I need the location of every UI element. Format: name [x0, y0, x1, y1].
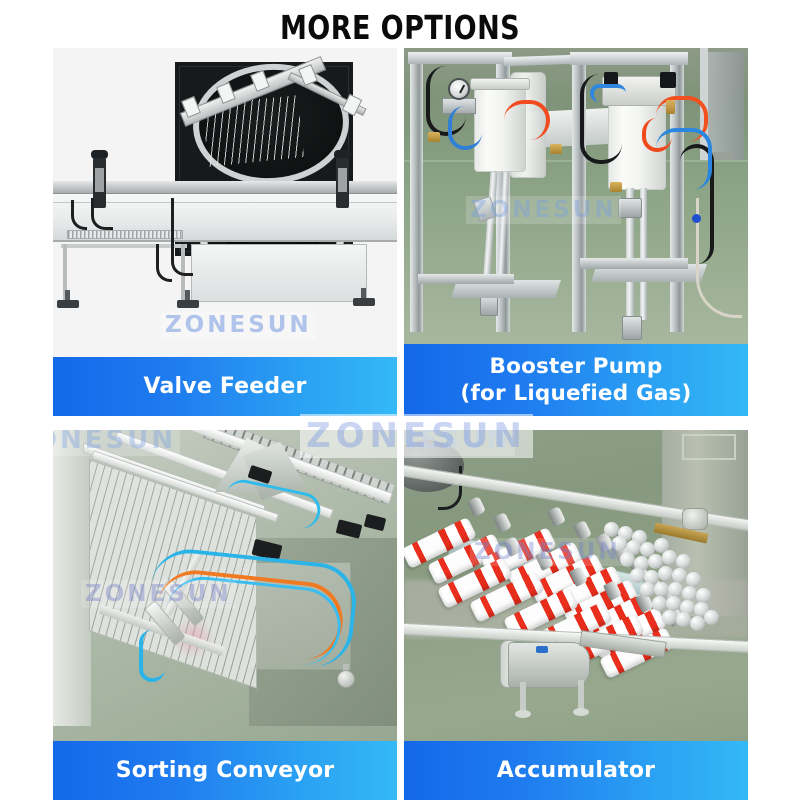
- pump-foot: [573, 708, 589, 716]
- option-card-valve-feeder[interactable]: ZONESUN Valve Feeder: [53, 48, 397, 416]
- cable-tag: [692, 214, 701, 223]
- brass-fitting: [666, 100, 675, 114]
- pump-label: [536, 646, 548, 653]
- can-top: [676, 612, 691, 627]
- blue-air-tube: [590, 84, 626, 102]
- can-cap: [573, 520, 592, 541]
- brass-fitting: [610, 182, 622, 192]
- frame-column: [410, 52, 423, 332]
- leveling-foot: [177, 300, 199, 308]
- can-top: [662, 610, 677, 625]
- sorting-conveyor-photo: ZONESUN ZONESUN: [53, 430, 397, 741]
- caption-sorting-conveyor: Sorting Conveyor: [53, 741, 397, 800]
- can-top: [630, 568, 645, 583]
- caption-line: Sorting Conveyor: [116, 757, 335, 784]
- caption-line: Booster Pump: [460, 353, 691, 380]
- leveling-foot: [353, 298, 375, 306]
- solenoid-block: [364, 514, 387, 531]
- caption-booster-pump: Booster Pump (for Liquefied Gas): [404, 344, 748, 416]
- can-top: [704, 610, 719, 625]
- outlet-valve: [622, 316, 642, 340]
- can-top: [686, 572, 701, 587]
- pneumatic-hose: [91, 198, 113, 230]
- can-top: [696, 588, 711, 603]
- frame-bottom-rail: [418, 274, 514, 284]
- frame-top-rail: [504, 55, 576, 67]
- blue-air-tube: [448, 106, 482, 150]
- machine-base-cabinet: [191, 244, 367, 302]
- guide-post-right: [336, 158, 349, 208]
- more-options-page: MORE OPTIONS: [0, 0, 800, 800]
- can-top: [676, 554, 691, 569]
- pump-leg: [578, 680, 584, 710]
- can-top: [640, 582, 655, 597]
- option-card-accumulator[interactable]: ZONESUN ZONESUN Accumulator: [404, 430, 748, 800]
- outlet-valve: [618, 198, 642, 218]
- blue-air-tube: [656, 128, 712, 190]
- can-top: [612, 536, 627, 551]
- can-top: [654, 582, 669, 597]
- valve-feeder-photo: ZONESUN: [53, 48, 397, 357]
- caption-line: Valve Feeder: [143, 373, 306, 400]
- background-wall: [53, 430, 91, 726]
- frame-top-rail: [570, 52, 688, 65]
- pneumatic-hose: [156, 244, 172, 282]
- accumulator-photo: ZONESUN ZONESUN: [404, 430, 748, 741]
- can-top: [682, 586, 697, 601]
- brass-fitting: [550, 144, 562, 154]
- can-cap: [547, 506, 566, 527]
- leveling-foot: [337, 670, 355, 688]
- blue-air-tube: [139, 630, 165, 682]
- leveling-foot: [57, 300, 79, 308]
- caption-valve-feeder: Valve Feeder: [53, 357, 397, 416]
- valve-block: [660, 72, 676, 88]
- pump-foot: [515, 710, 531, 718]
- can-top: [668, 582, 683, 597]
- can-top: [666, 596, 681, 611]
- can-top: [672, 568, 687, 583]
- frame-bottom-rail: [580, 258, 688, 269]
- can-top: [604, 522, 619, 537]
- solenoid-block: [336, 519, 363, 538]
- adjust-knob: [682, 508, 708, 530]
- power-cable: [696, 198, 742, 318]
- frame-top-rail: [408, 52, 512, 64]
- booster-pump-photo: ZONESUN: [404, 48, 748, 344]
- can-cap: [467, 496, 486, 517]
- slat-rack: [67, 230, 183, 239]
- can-top: [658, 566, 673, 581]
- options-grid: ZONESUN Valve Feeder: [53, 48, 748, 800]
- can-top: [662, 550, 677, 565]
- page-title: MORE OPTIONS: [72, 8, 728, 48]
- brass-fitting: [428, 132, 440, 142]
- can-cap: [493, 512, 512, 533]
- pump-leg: [520, 682, 526, 712]
- can-top: [690, 616, 705, 631]
- can-top: [652, 596, 667, 611]
- pneumatic-hose: [171, 198, 193, 276]
- caption-line: (for Liquefied Gas): [460, 380, 691, 407]
- caption-line: Accumulator: [497, 757, 655, 784]
- option-card-sorting-conveyor[interactable]: ZONESUN ZONESUN Sorting Conveyor: [53, 430, 397, 800]
- caption-accumulator: Accumulator: [404, 741, 748, 800]
- zonesun-watermark: ZONESUN: [161, 311, 316, 339]
- can-top: [620, 552, 635, 567]
- cylinder-cap-left: [470, 78, 530, 90]
- red-air-tube: [504, 100, 550, 140]
- option-card-booster-pump[interactable]: ZONESUN Booster Pump (for Liquefied Gas): [404, 48, 748, 416]
